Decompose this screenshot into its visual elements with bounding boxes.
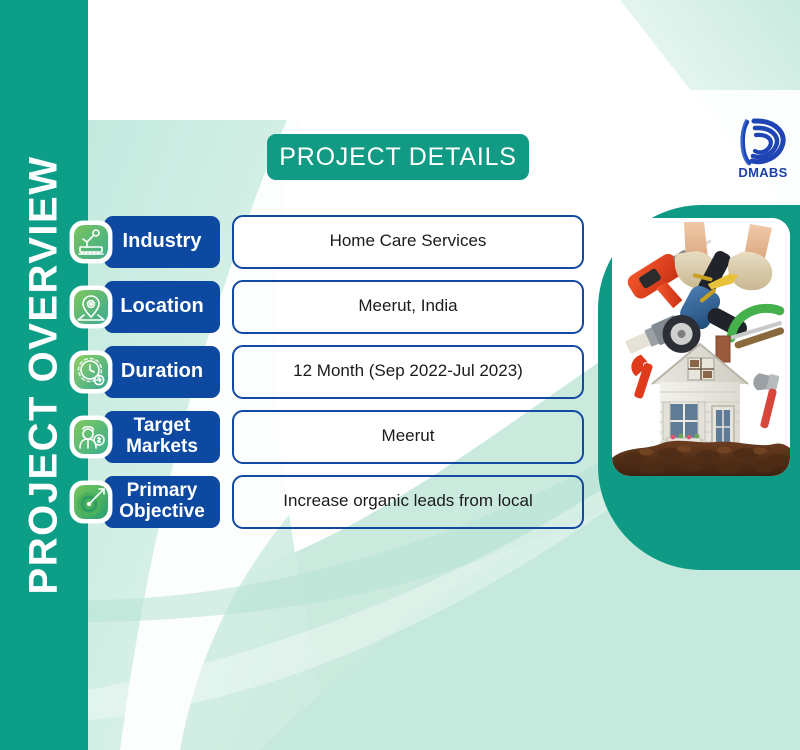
row-label-location: Location — [104, 281, 220, 333]
row-label-line2: Objective — [119, 502, 205, 523]
factory-robot-arm-icon — [70, 221, 112, 263]
project-photo — [612, 218, 790, 476]
target-dart-icon — [70, 481, 112, 523]
location-pin-icon — [70, 286, 112, 328]
location-pin-icon-svg — [74, 290, 108, 324]
row-value-industry: Home Care Services — [232, 215, 584, 269]
row-label-duration: Duration — [104, 346, 220, 398]
page-title: PROJECT DETAILS — [267, 134, 529, 180]
row-value-target-markets: Meerut — [232, 410, 584, 464]
row-label-target-markets: Target Markets — [104, 411, 220, 463]
row-label-line1: Target — [134, 416, 191, 437]
customer-dollar-icon-svg — [74, 420, 108, 454]
clock-icon — [70, 351, 112, 393]
table-row: Industry Home Care Services — [0, 209, 600, 274]
table-row: Target Markets Meerut — [0, 404, 600, 469]
row-value-primary-objective: Increase organic leads from local — [232, 475, 584, 529]
project-overview-slide: PROJECT OVERVIEW PROJECT DETAILS DMABS — [0, 0, 800, 750]
table-row: Location Meerut, India — [0, 274, 600, 339]
brand-name: DMABS — [738, 165, 787, 180]
project-details-table: Industry Home Care Services Loc — [0, 209, 600, 534]
dmabs-swirl-logo-icon — [737, 116, 789, 168]
row-label-industry: Industry — [104, 216, 220, 268]
clock-icon-svg — [74, 355, 108, 389]
row-value-location: Meerut, India — [232, 280, 584, 334]
row-value-duration: 12 Month (Sep 2022-Jul 2023) — [232, 345, 584, 399]
table-row: Primary Objective Increase organic leads… — [0, 469, 600, 534]
row-label-line2: Markets — [126, 437, 198, 458]
row-label-line1: Primary — [127, 481, 198, 502]
customer-dollar-icon — [70, 416, 112, 458]
target-dart-icon-svg — [74, 485, 108, 519]
home-repair-tools-around-house-photo-icon — [612, 218, 790, 476]
brand-logo: DMABS — [733, 116, 793, 190]
row-label-primary-objective: Primary Objective — [104, 476, 220, 528]
table-row: Duration 12 Month (Sep 2022-Jul 2023) — [0, 339, 600, 404]
factory-robot-arm-icon-svg — [74, 225, 108, 259]
